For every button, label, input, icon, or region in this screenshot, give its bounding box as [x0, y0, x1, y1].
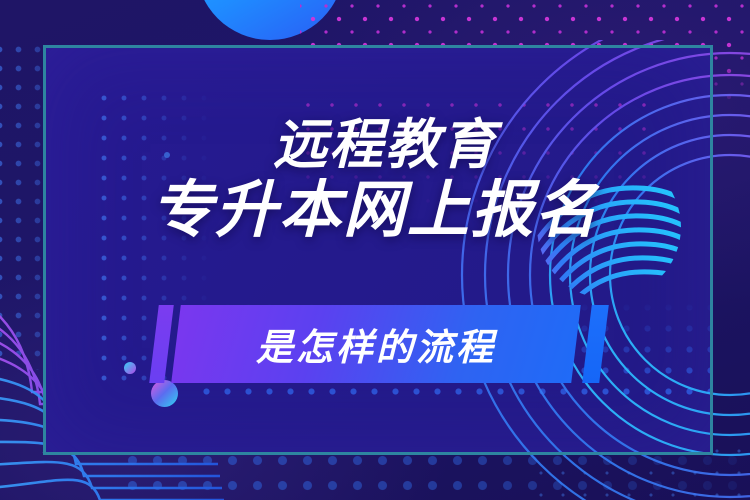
title-line-2: 专升本网上报名	[0, 179, 750, 242]
teal-frame-border	[43, 45, 713, 455]
subtitle-banner: 是怎样的流程	[150, 303, 610, 385]
subtitle-accent-bar-right	[582, 305, 609, 383]
cyan-circle-icon	[196, 0, 344, 40]
subtitle-text: 是怎样的流程	[176, 305, 576, 383]
blue-halftone-dots-bottom-icon	[120, 448, 750, 500]
promo-poster: 远程教育 专升本网上报名 是怎样的流程	[0, 0, 750, 500]
chevron-outline-icon	[42, 452, 164, 500]
title-block: 远程教育 专升本网上报名	[0, 118, 750, 242]
title-line-1: 远程教育	[20, 118, 750, 173]
subtitle-accent-bar-left	[149, 305, 174, 383]
